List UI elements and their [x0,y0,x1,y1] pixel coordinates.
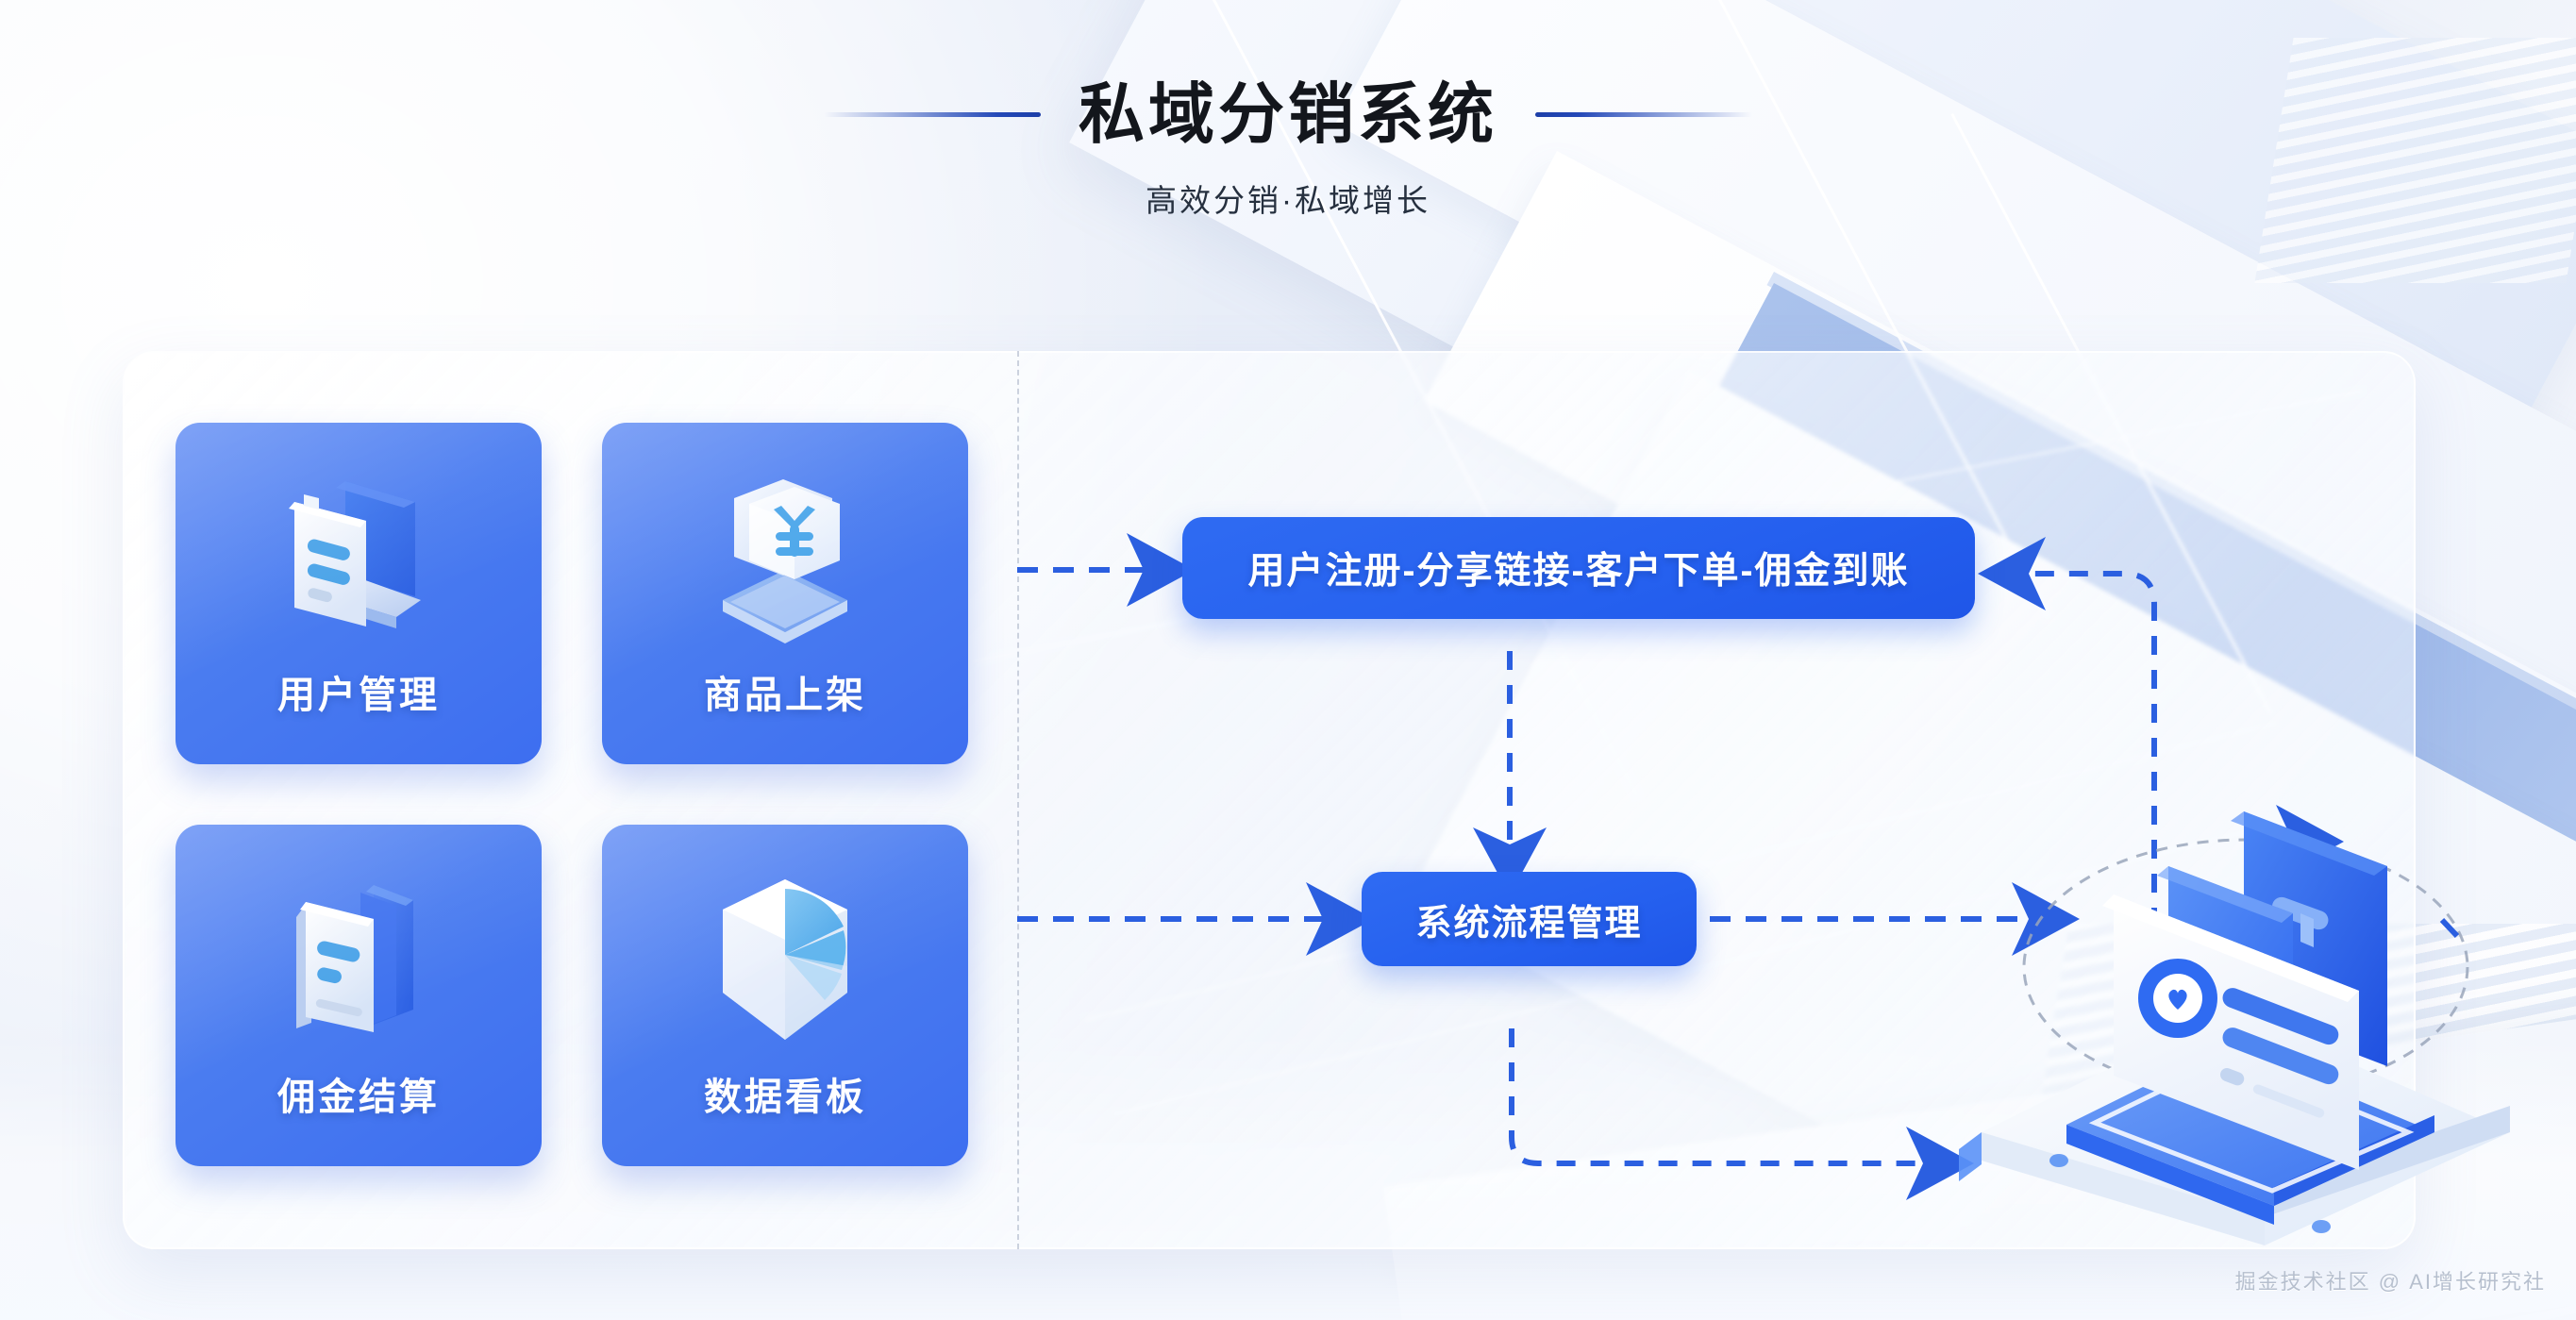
feature-card-label: 商品上架 [704,664,866,719]
feature-card-label: 用户管理 [277,664,440,719]
flow-step-sub[interactable]: 系统流程管理 [1362,872,1697,966]
feature-card-commission-settlement[interactable]: 佣金结算 [176,825,542,1166]
title-rule-right-icon [1535,112,1752,117]
flow-step-main[interactable]: 用户注册-分享链接-客户下单-佣金到账 [1182,517,1975,619]
page-header: 私域分销系统 高效分销·私域增长 [0,81,2576,221]
title-rule-left-icon [824,112,1041,117]
feature-card-label: 数据看板 [704,1066,866,1121]
document-stand-icon [255,459,462,657]
isometric-dashboard-card-icon [1944,755,2548,1245]
feature-card-user-management[interactable]: 用户管理 [176,423,542,764]
feature-card-grid: 用户管理 [176,423,968,1182]
flow-step-main-label: 用户注册-分享链接-客户下单-佣金到账 [1248,542,1910,594]
panel-vertical-divider [1017,351,1019,1249]
title-row: 私域分销系统 [0,81,2576,147]
feature-card-product-listing[interactable]: 商品上架 [602,423,968,764]
commission-document-icon [255,861,462,1059]
flow-step-sub-label: 系统流程管理 [1415,894,1642,945]
watermark: 掘金技术社区 @ AI增长研究社 [2235,1265,2546,1295]
pie-chart-dashboard-icon [681,861,889,1059]
page-title: 私域分销系统 [1079,81,1497,147]
feature-card-label: 佣金结算 [277,1066,440,1121]
feature-card-data-dashboard[interactable]: 数据看板 [602,825,968,1166]
page-subtitle: 高效分销·私域增长 [0,175,2576,221]
yuan-product-upload-icon [681,459,889,657]
